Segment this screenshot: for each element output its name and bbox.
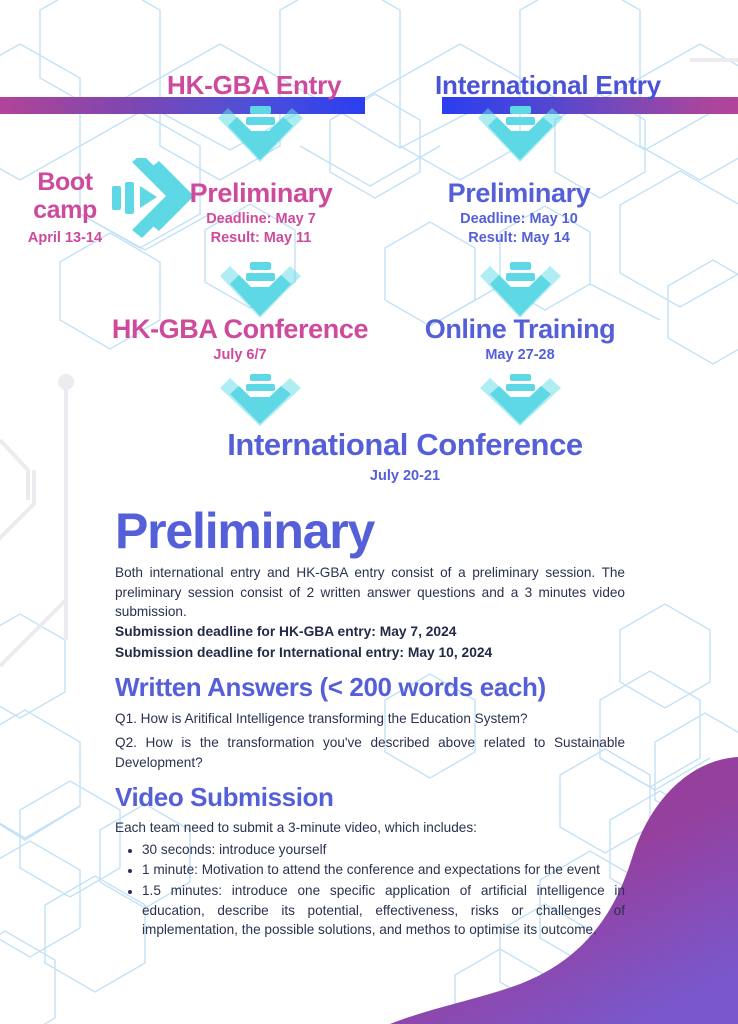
node-deadline: Deadline: May 7	[150, 211, 372, 227]
node-deadline: Deadline: May 10	[408, 211, 630, 227]
page-title: Preliminary	[115, 504, 625, 558]
video-submission-heading: Video Submission	[115, 782, 625, 813]
node-title: Preliminary	[150, 178, 372, 208]
node-date: May 27-28	[410, 347, 630, 363]
node-title: International Conference	[160, 428, 650, 463]
bootcamp-date: April 13-14	[6, 230, 124, 246]
preliminary-intro-paragraph: Both international entry and HK-GBA entr…	[115, 563, 625, 622]
node-title: HK-GBA Conference	[90, 314, 390, 344]
written-answers-heading: Written Answers (< 200 words each)	[115, 672, 625, 703]
down-arrow-icon-hkgba-top	[218, 106, 303, 184]
timeline-node-bootcamp: Boot camp April 13-14	[6, 168, 124, 246]
timeline-node-preliminary-international: Preliminary Deadline: May 10 Result: May…	[408, 178, 630, 247]
entry-label-international: International Entry	[435, 70, 661, 101]
node-date: July 20-21	[160, 468, 650, 484]
node-title: Preliminary	[408, 178, 630, 208]
deadline-hkgba-line: Submission deadline for HK-GBA entry: Ma…	[115, 622, 625, 643]
poster-page: HK-GBA Entry International Entry	[0, 0, 738, 1024]
bootcamp-title-line1: Boot	[6, 168, 124, 196]
main-content: Preliminary Both international entry and…	[115, 504, 625, 940]
down-arrow-icon-international-top	[478, 106, 563, 184]
timeline-node-international-conference: International Conference July 20-21	[160, 428, 650, 484]
bootcamp-title-line2: camp	[6, 196, 124, 224]
list-item: 1 minute: Motivation to attend the confe…	[142, 860, 625, 880]
list-item: 1.5 minutes: introduce one specific appl…	[142, 881, 625, 940]
timeline-node-hkgba-conference: HK-GBA Conference July 6/7	[90, 314, 390, 363]
video-requirements-list: 30 seconds: introduce yourself 1 minute:…	[115, 840, 625, 941]
node-result: Result: May 14	[408, 230, 630, 246]
video-intro-line: Each team need to submit a 3-minute vide…	[115, 818, 625, 838]
entry-label-hk-gba: HK-GBA Entry	[167, 70, 341, 101]
list-item: 30 seconds: introduce yourself	[142, 840, 625, 860]
timeline-node-preliminary-hkgba: Preliminary Deadline: May 7 Result: May …	[150, 178, 372, 247]
node-result: Result: May 11	[150, 230, 372, 246]
deadline-international-line: Submission deadline for International en…	[115, 643, 625, 664]
node-title: Online Training	[410, 314, 630, 344]
written-question-2: Q2. How is the transformation you've des…	[115, 733, 625, 772]
timeline-node-online-training: Online Training May 27-28	[410, 314, 630, 363]
node-date: July 6/7	[90, 347, 390, 363]
written-question-1: Q1. How is Aritifical Intelligence trans…	[115, 709, 625, 729]
